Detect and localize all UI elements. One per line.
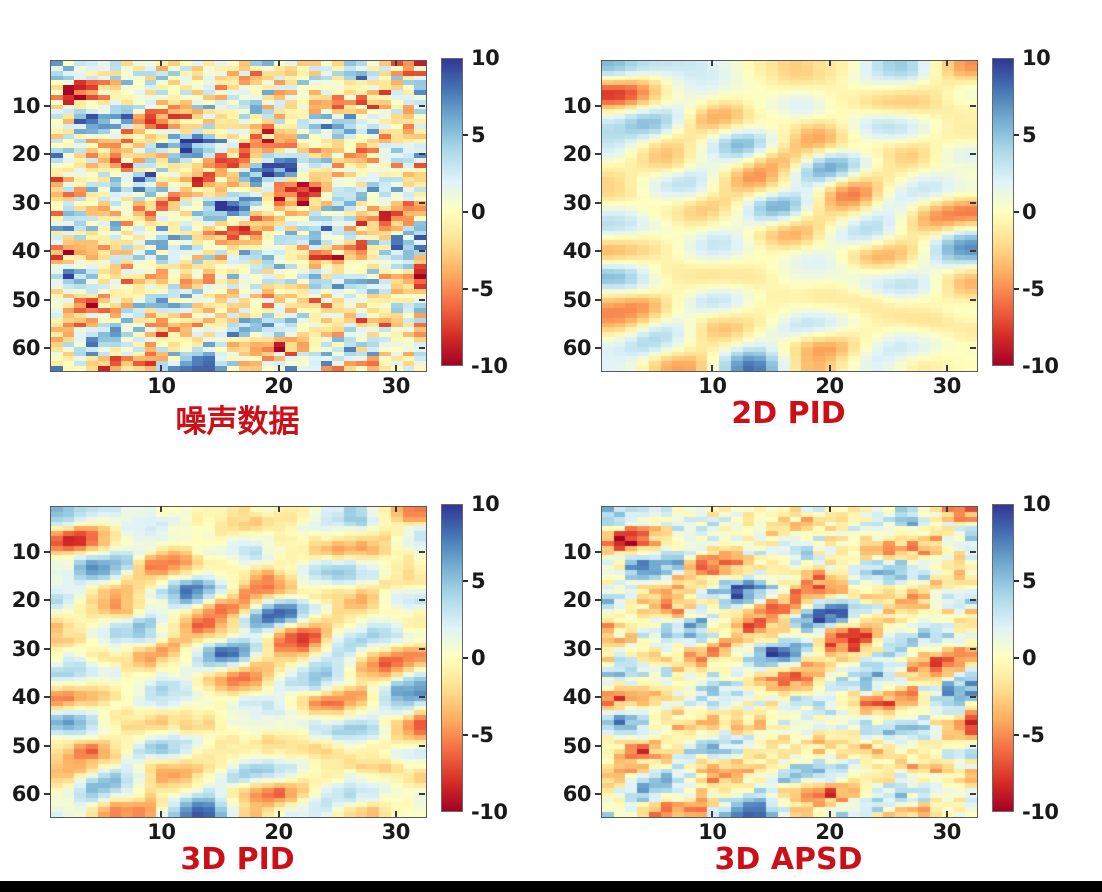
y-axis-tick-right (419, 696, 425, 698)
y-axis-tick (44, 250, 50, 252)
colorbar-tick-label: -10 (1022, 354, 1058, 378)
panel-3d-apsd: 102030405060102030 3D APSD 1050-5-10 (551, 446, 1102, 892)
x-axis-tick-top (711, 60, 713, 66)
y-axis-tick-right (419, 347, 425, 349)
colorbar-gradient-2d-pid (992, 58, 1014, 366)
y-axis-tick-right (970, 347, 976, 349)
y-axis-tick (44, 696, 50, 698)
figure-canvas: 102030405060102030 噪声数据 1050-5-10 102030… (0, 0, 1102, 892)
x-axis-tick-top (395, 506, 397, 512)
y-axis-tick-label: 30 (551, 191, 591, 215)
x-axis-tick-top (946, 506, 948, 512)
y-axis-tick-right (970, 793, 976, 795)
x-axis-tick (946, 811, 948, 817)
colorbar-tick (1014, 580, 1019, 582)
heatmap-image-3d-apsd (602, 507, 977, 817)
colorbar-tick-label: -5 (471, 723, 493, 747)
y-axis-tick-label: 30 (0, 637, 40, 661)
colorbar-tick (1014, 211, 1019, 213)
y-axis-tick (595, 599, 601, 601)
x-axis-tick-top (829, 60, 831, 66)
x-axis-tick-label: 10 (131, 820, 191, 844)
x-axis-tick (829, 811, 831, 817)
x-axis-tick-label: 10 (682, 374, 742, 398)
y-axis-tick-label: 20 (0, 142, 40, 166)
y-axis-tick (44, 153, 50, 155)
y-axis-tick (44, 599, 50, 601)
x-axis-tick-top (278, 506, 280, 512)
x-axis-tick (711, 365, 713, 371)
x-axis-tick (395, 365, 397, 371)
y-axis-tick-label: 60 (0, 782, 40, 806)
colorbar-tick-label: 0 (1022, 646, 1036, 670)
y-axis-tick-right (970, 696, 976, 698)
colorbar-tick-label: 10 (471, 492, 499, 516)
x-axis-tick-label: 30 (917, 374, 977, 398)
x-axis-tick-label: 20 (249, 820, 309, 844)
colorbar-tick-label: 0 (471, 200, 485, 224)
colorbar-tick-label: -10 (471, 354, 507, 378)
y-axis-tick-label: 30 (0, 191, 40, 215)
y-axis-tick (595, 250, 601, 252)
y-axis-tick-right (419, 153, 425, 155)
y-axis-tick (595, 551, 601, 553)
colorbar-2d-pid: 1050-5-10 (992, 58, 1014, 366)
colorbar-tick (463, 211, 468, 213)
y-axis-tick-right (419, 793, 425, 795)
y-axis-tick (595, 696, 601, 698)
x-axis-tick-top (160, 506, 162, 512)
colorbar-tick (463, 288, 468, 290)
heatmap-axes-3d-pid (50, 506, 427, 818)
colorbar-tick-label: 0 (1022, 200, 1036, 224)
colorbar-tick (463, 580, 468, 582)
y-axis-tick-right (419, 299, 425, 301)
y-axis-tick-label: 60 (551, 336, 591, 360)
panel-title-3d-apsd: 3D APSD (601, 842, 976, 877)
y-axis-tick (44, 793, 50, 795)
x-axis-tick (711, 811, 713, 817)
y-axis-tick-right (419, 250, 425, 252)
y-axis-tick-right (419, 551, 425, 553)
y-axis-tick-label: 40 (0, 685, 40, 709)
y-axis-tick-right (970, 599, 976, 601)
y-axis-tick-label: 60 (0, 336, 40, 360)
y-axis-tick-label: 10 (0, 540, 40, 564)
y-axis-tick-label: 40 (551, 239, 591, 263)
x-axis-tick-label: 20 (249, 374, 309, 398)
colorbar-tick (463, 657, 468, 659)
x-axis-tick-top (711, 506, 713, 512)
y-axis-tick (44, 745, 50, 747)
colorbar-tick-label: 0 (471, 646, 485, 670)
colorbar-gradient-3d-pid (441, 504, 463, 812)
x-axis-tick-top (160, 60, 162, 66)
y-axis-tick-right (970, 551, 976, 553)
y-axis-tick (595, 202, 601, 204)
y-axis-tick-right (970, 202, 976, 204)
heatmap-axes-2d-pid (601, 60, 978, 372)
y-axis-tick-label: 40 (551, 685, 591, 709)
colorbar-tick (463, 134, 468, 136)
y-axis-tick-right (970, 299, 976, 301)
colorbar-tick-label: 5 (1022, 123, 1036, 147)
x-axis-tick-label: 30 (366, 820, 426, 844)
y-axis-tick-label: 50 (551, 734, 591, 758)
y-axis-tick (595, 105, 601, 107)
y-axis-tick (595, 793, 601, 795)
y-axis-tick-right (970, 648, 976, 650)
heatmap-axes-3d-apsd (601, 506, 978, 818)
panel-title-noisy-data: 噪声数据 (50, 396, 425, 441)
colorbar-tick-label: 5 (471, 569, 485, 593)
colorbar-tick (463, 734, 468, 736)
colorbar-tick (1014, 657, 1019, 659)
y-axis-tick (595, 299, 601, 301)
y-axis-tick (44, 299, 50, 301)
y-axis-tick (44, 551, 50, 553)
x-axis-tick (278, 365, 280, 371)
y-axis-tick-label: 50 (0, 288, 40, 312)
y-axis-tick-right (419, 105, 425, 107)
panel-noisy-data: 102030405060102030 噪声数据 1050-5-10 (0, 0, 551, 446)
panel-title-3d-pid: 3D PID (50, 842, 425, 877)
x-axis-tick-top (395, 60, 397, 66)
x-axis-tick-top (829, 506, 831, 512)
colorbar-tick (1014, 134, 1019, 136)
colorbar-noisy-data: 1050-5-10 (441, 58, 463, 366)
y-axis-tick-label: 20 (0, 588, 40, 612)
x-axis-tick (160, 365, 162, 371)
colorbar-gradient-3d-apsd (992, 504, 1014, 812)
y-axis-tick-label: 40 (0, 239, 40, 263)
colorbar-tick-label: 10 (1022, 492, 1050, 516)
panel-3d-pid: 102030405060102030 3D PID 1050-5-10 (0, 446, 551, 892)
colorbar-tick-label: -10 (1022, 800, 1058, 824)
y-axis-tick-right (970, 153, 976, 155)
y-axis-tick-right (970, 250, 976, 252)
x-axis-tick-label: 10 (682, 820, 742, 844)
colorbar-tick-label: -10 (471, 800, 507, 824)
y-axis-tick-label: 10 (0, 94, 40, 118)
x-axis-tick-label: 20 (800, 820, 860, 844)
x-axis-tick (946, 365, 948, 371)
colorbar-tick-label: 10 (1022, 46, 1050, 70)
y-axis-tick-label: 10 (551, 94, 591, 118)
y-axis-tick (595, 153, 601, 155)
x-axis-tick-label: 20 (800, 374, 860, 398)
y-axis-tick-right (419, 745, 425, 747)
y-axis-tick-right (419, 599, 425, 601)
y-axis-tick-right (419, 648, 425, 650)
y-axis-tick (44, 347, 50, 349)
bottom-black-bar (0, 881, 1102, 892)
y-axis-tick (44, 105, 50, 107)
x-axis-tick-label: 30 (366, 374, 426, 398)
y-axis-tick (595, 745, 601, 747)
y-axis-tick (595, 648, 601, 650)
x-axis-tick-label: 30 (917, 820, 977, 844)
y-axis-tick (44, 202, 50, 204)
x-axis-tick-top (278, 60, 280, 66)
y-axis-tick (595, 347, 601, 349)
y-axis-tick-label: 50 (551, 288, 591, 312)
colorbar-gradient-noisy-data (441, 58, 463, 366)
y-axis-tick-label: 60 (551, 782, 591, 806)
heatmap-image-2d-pid (602, 61, 977, 371)
colorbar-tick-label: -5 (1022, 277, 1044, 301)
colorbar-3d-pid: 1050-5-10 (441, 504, 463, 812)
y-axis-tick-label: 30 (551, 637, 591, 661)
y-axis-tick-right (970, 745, 976, 747)
colorbar-tick (1014, 734, 1019, 736)
y-axis-tick (44, 648, 50, 650)
y-axis-tick-label: 10 (551, 540, 591, 564)
colorbar-tick (1014, 288, 1019, 290)
colorbar-tick-label: -5 (1022, 723, 1044, 747)
heatmap-image-noisy-data (51, 61, 426, 371)
x-axis-tick-top (946, 60, 948, 66)
y-axis-tick-label: 20 (551, 142, 591, 166)
colorbar-tick-label: 5 (1022, 569, 1036, 593)
y-axis-tick-right (419, 202, 425, 204)
x-axis-tick (829, 365, 831, 371)
y-axis-tick-label: 20 (551, 588, 591, 612)
heatmap-axes-noisy-data (50, 60, 427, 372)
x-axis-tick (160, 811, 162, 817)
heatmap-image-3d-pid (51, 507, 426, 817)
colorbar-3d-apsd: 1050-5-10 (992, 504, 1014, 812)
x-axis-tick (278, 811, 280, 817)
panel-2d-pid: 102030405060102030 2D PID 1050-5-10 (551, 0, 1102, 446)
colorbar-tick-label: 5 (471, 123, 485, 147)
y-axis-tick-right (970, 105, 976, 107)
panel-title-2d-pid: 2D PID (601, 396, 976, 431)
x-axis-tick (395, 811, 397, 817)
x-axis-tick-label: 10 (131, 374, 191, 398)
colorbar-tick-label: -5 (471, 277, 493, 301)
y-axis-tick-label: 50 (0, 734, 40, 758)
colorbar-tick-label: 10 (471, 46, 499, 70)
